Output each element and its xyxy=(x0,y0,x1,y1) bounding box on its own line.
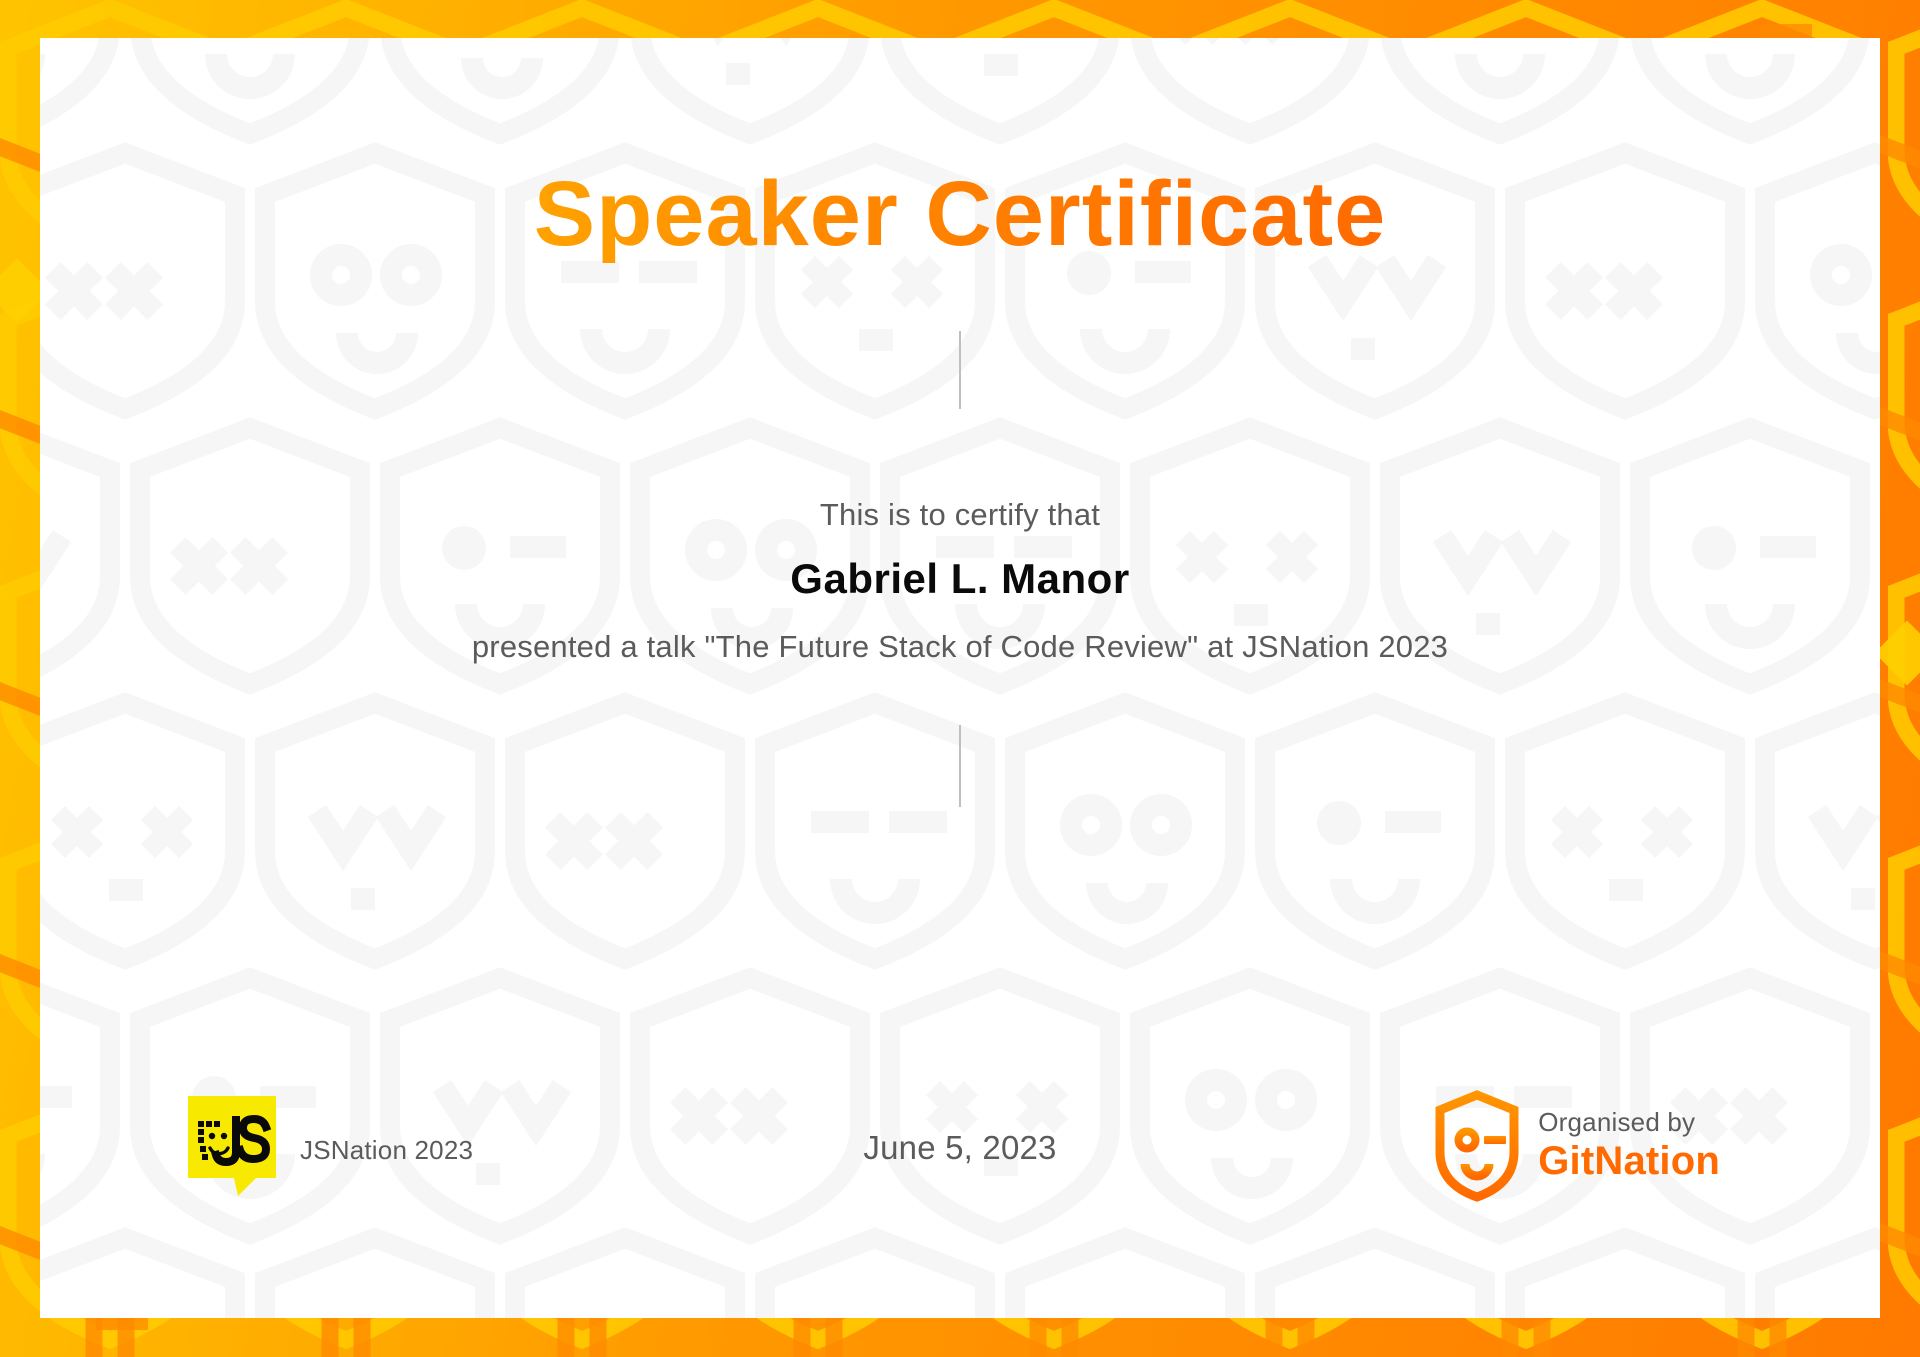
talk-description: presented a talk "The Future Stack of Co… xyxy=(472,629,1448,665)
organiser-text-group: Organised by GitNation xyxy=(1538,1107,1720,1185)
certify-line: This is to certify that xyxy=(820,497,1100,533)
gitnation-shield-mask-icon xyxy=(1434,1090,1520,1202)
certificate-date: June 5, 2023 xyxy=(863,1125,1056,1167)
footer-right-group: Organised by GitNation xyxy=(1434,1090,1720,1202)
jsnation-logo-icon xyxy=(188,1096,276,1196)
event-name-label: JSNation 2023 xyxy=(300,1127,473,1166)
certificate-footer: JSNation 2023 June 5, 2023 xyxy=(40,1086,1880,1206)
speaker-certificate: Speaker Certificate This is to certify t… xyxy=(0,0,1920,1357)
organised-by-label: Organised by xyxy=(1538,1107,1720,1138)
divider-top xyxy=(959,331,961,409)
organiser-name: GitNation xyxy=(1538,1138,1720,1185)
page-title: Speaker Certificate xyxy=(534,166,1387,263)
recipient-name: Gabriel L. Manor xyxy=(790,555,1129,603)
footer-left-group: JSNation 2023 xyxy=(188,1096,473,1196)
divider-bottom xyxy=(959,725,961,807)
certificate-card: Speaker Certificate This is to certify t… xyxy=(40,38,1880,1318)
